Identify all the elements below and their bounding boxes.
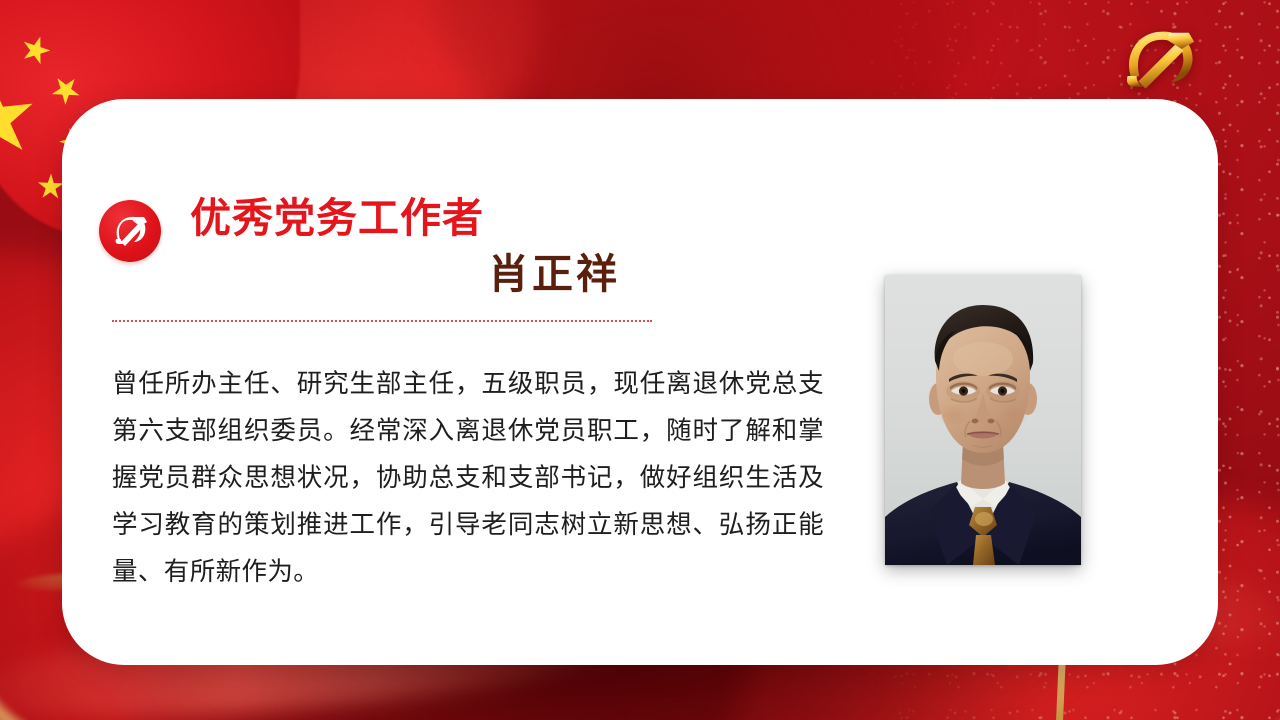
slide-root: 优秀党务工作者 肖正祥 曾任所办主任、研究生部主任，五级职员，现任离退休党总支第…: [0, 0, 1280, 720]
hammer-sickle-white-glyph: [110, 211, 150, 251]
page-title: 优秀党务工作者: [190, 198, 484, 239]
cpc-party-emblem-badge-icon: [99, 200, 161, 262]
biography-text: 曾任所办主任、研究生部主任，五级职员，现任离退休党总支第六支部组织委员。经常深入…: [112, 361, 824, 596]
content-card: 优秀党务工作者 肖正祥 曾任所办主任、研究生部主任，五级职员，现任离退休党总支第…: [62, 99, 1218, 665]
honoree-name: 肖正祥: [190, 254, 620, 295]
portrait-photo-image: [885, 275, 1081, 565]
dotted-divider: [112, 320, 652, 322]
portrait-photo: [885, 275, 1081, 565]
